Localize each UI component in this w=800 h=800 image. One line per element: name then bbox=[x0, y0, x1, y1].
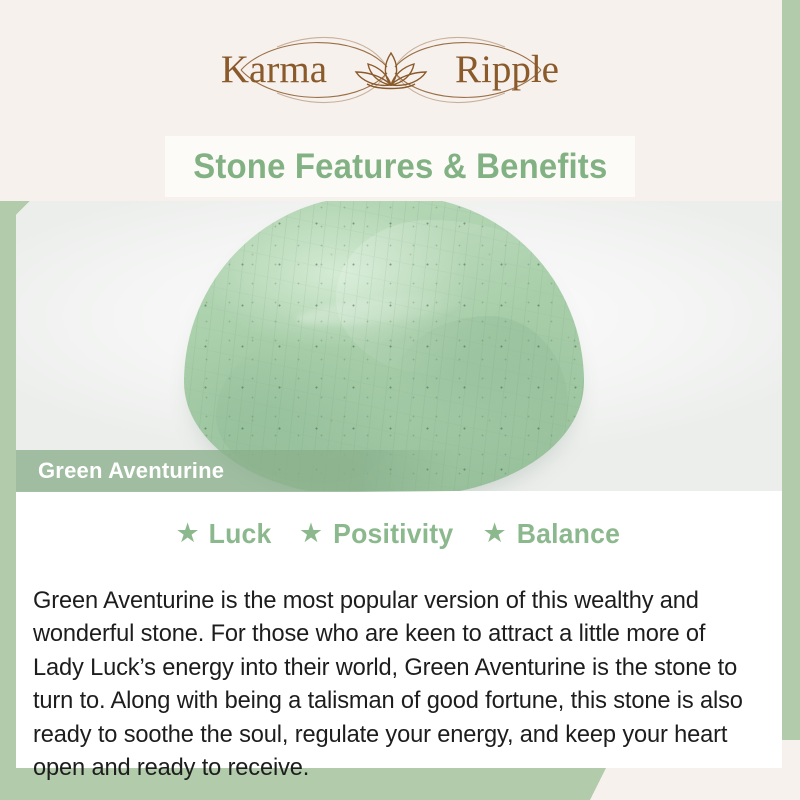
stone-description: Green Aventurine is the most popular ver… bbox=[33, 584, 755, 785]
stone-name-bar: Green Aventurine bbox=[16, 450, 782, 492]
stone-speckle-texture bbox=[184, 201, 584, 491]
benefit-item-balance: ★ Balance bbox=[483, 518, 623, 550]
star-icon: ★ bbox=[299, 520, 323, 547]
brand-logo-svg: Karma Ripple bbox=[181, 27, 601, 113]
infographic-card: Karma Ripple Stone Features & Benefits G… bbox=[0, 0, 800, 800]
stone-name-label: Green Aventurine bbox=[38, 458, 224, 484]
benefit-label: Positivity bbox=[333, 518, 453, 550]
benefit-label: Luck bbox=[208, 518, 271, 550]
section-title-banner: Stone Features & Benefits bbox=[165, 136, 635, 197]
brand-logo[interactable]: Karma Ripple bbox=[0, 26, 782, 114]
lotus-icon bbox=[356, 53, 426, 89]
benefit-item-positivity: ★ Positivity bbox=[299, 518, 457, 550]
green-aventurine-stone-image bbox=[184, 201, 584, 491]
benefit-label: Balance bbox=[516, 518, 619, 550]
brand-name-left: Karma bbox=[221, 48, 327, 91]
section-title-text: Stone Features & Benefits bbox=[193, 147, 607, 187]
star-icon: ★ bbox=[175, 520, 199, 547]
benefits-row: ★ Luck ★ Positivity ★ Balance bbox=[16, 513, 782, 555]
brand-name-right: Ripple bbox=[455, 48, 559, 91]
stone-photo bbox=[16, 201, 782, 491]
benefit-item-luck: ★ Luck bbox=[175, 518, 272, 550]
stone-name-bar-fade bbox=[356, 450, 456, 492]
star-icon: ★ bbox=[483, 520, 507, 547]
